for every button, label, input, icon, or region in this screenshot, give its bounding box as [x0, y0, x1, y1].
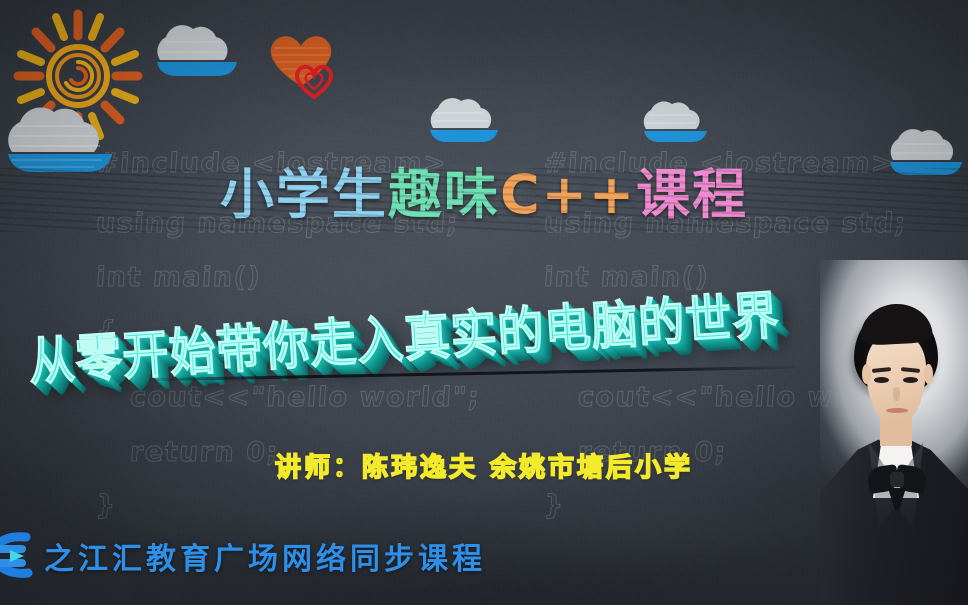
- portrait-eye-right: [903, 377, 918, 383]
- page-title-segment-3: 课程: [636, 168, 748, 222]
- page-title-segment-0: 小学生: [220, 168, 388, 222]
- portrait-mouth: [886, 408, 908, 413]
- page-title-segment-2: C++: [500, 168, 636, 222]
- instructor-portrait-photo: [820, 260, 968, 605]
- page-title: 小学生趣味C++课程: [0, 168, 968, 222]
- slide-canvas: #include <iostream>using namespace std;i…: [0, 0, 968, 605]
- portrait-nose: [893, 387, 900, 401]
- portrait-bowtie-knot: [890, 472, 904, 487]
- zjh-play-logo-icon: [0, 529, 38, 583]
- brand-bar: 之江汇教育广场网络同步课程: [0, 529, 486, 583]
- portrait-eye-left: [874, 377, 889, 383]
- portrait-ear-right: [924, 364, 933, 384]
- brand-name: 之江汇教育广场网络同步课程: [44, 534, 486, 578]
- portrait-ear-left: [862, 364, 871, 384]
- page-title-segment-1: 趣味: [388, 168, 500, 222]
